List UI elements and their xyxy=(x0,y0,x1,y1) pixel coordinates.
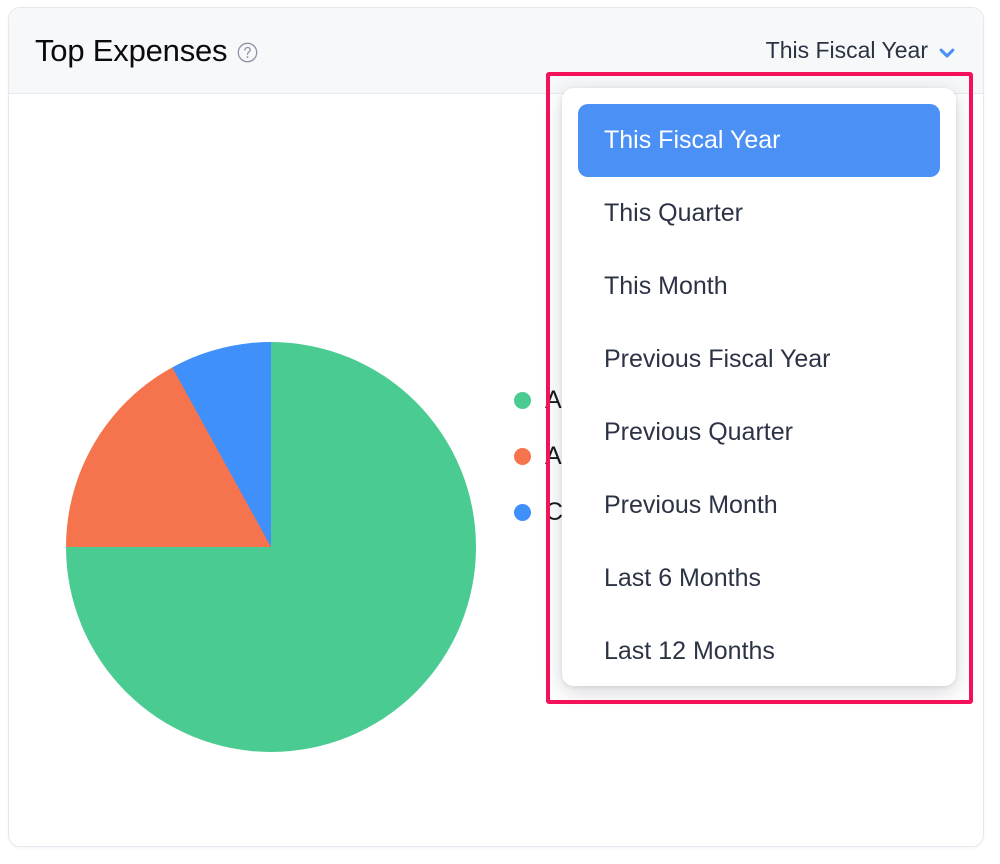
period-option-this-quarter[interactable]: This Quarter xyxy=(578,177,940,250)
period-option-last-6-months[interactable]: Last 6 Months xyxy=(578,542,940,615)
period-option-last-12-months[interactable]: Last 12 Months xyxy=(578,615,940,686)
period-dropdown-menu[interactable]: This Fiscal YearThis QuarterThis MonthPr… xyxy=(562,88,956,686)
period-filter-value: This Fiscal Year xyxy=(766,39,928,62)
legend-color-dot xyxy=(514,392,531,409)
period-option-previous-fiscal-year[interactable]: Previous Fiscal Year xyxy=(578,323,940,396)
period-filter-trigger[interactable]: This Fiscal Year xyxy=(766,39,961,62)
legend-color-dot xyxy=(514,448,531,465)
card-header: Top Expenses This Fiscal Year xyxy=(9,8,983,94)
expenses-pie-chart xyxy=(66,342,486,762)
chevron-down-icon[interactable] xyxy=(937,43,957,63)
period-option-list: This Fiscal YearThis QuarterThis MonthPr… xyxy=(578,104,940,686)
screen-root: Top Expenses This Fiscal Year xyxy=(0,0,1000,864)
pie-shape xyxy=(66,342,476,752)
legend-color-dot xyxy=(514,504,531,521)
period-option-previous-quarter[interactable]: Previous Quarter xyxy=(578,396,940,469)
period-option-this-fiscal-year[interactable]: This Fiscal Year xyxy=(578,104,940,177)
period-option-previous-month[interactable]: Previous Month xyxy=(578,469,940,542)
period-option-this-month[interactable]: This Month xyxy=(578,250,940,323)
page-title: Top Expenses xyxy=(35,35,227,66)
help-circle-icon[interactable] xyxy=(237,42,258,63)
